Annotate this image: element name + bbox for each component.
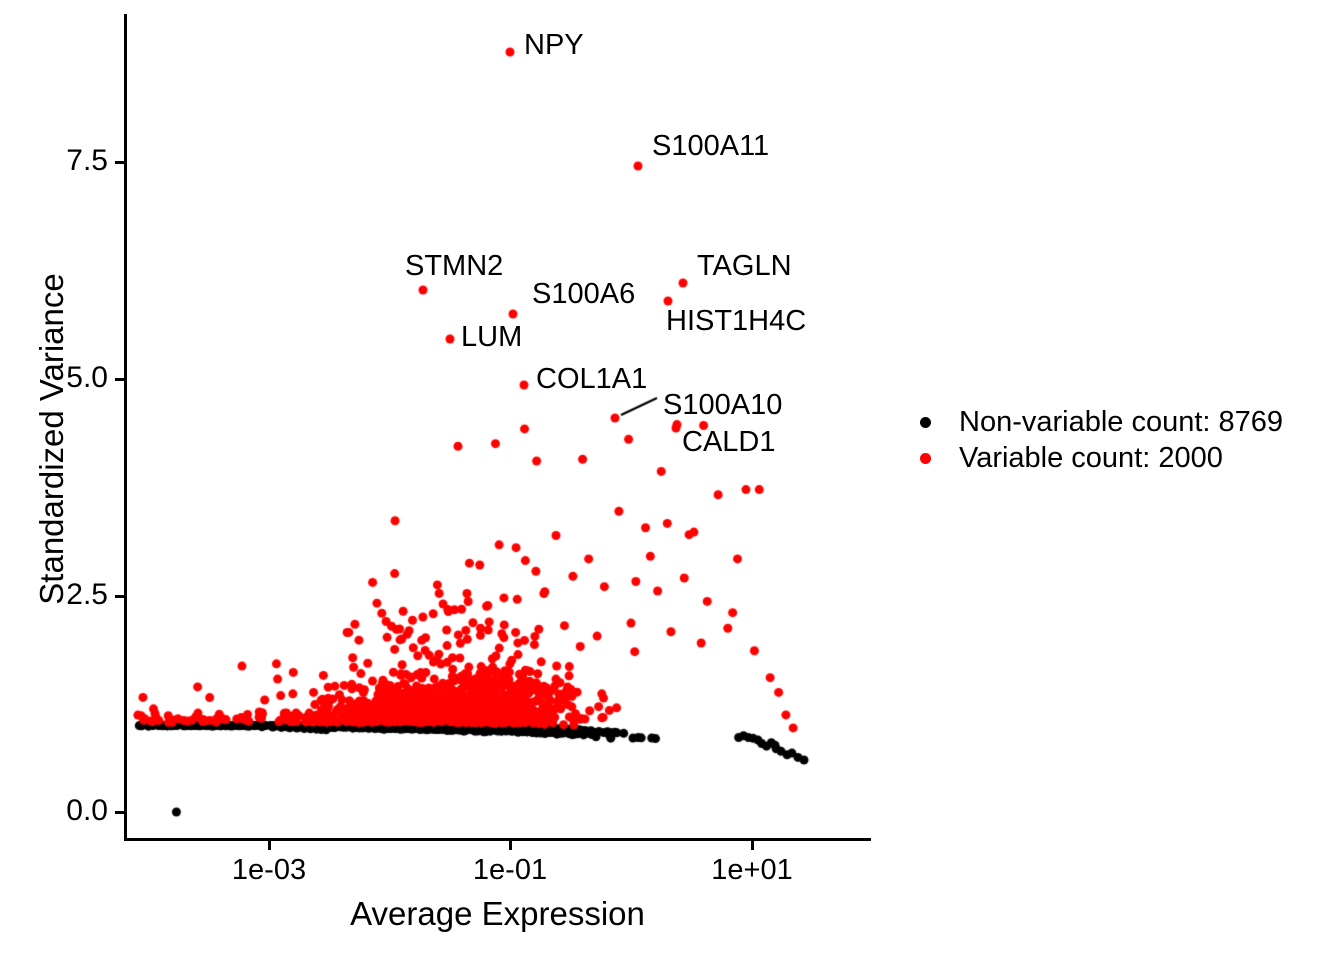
y-tick-mark [115, 595, 124, 598]
gene-label: HIST1H4C [666, 307, 806, 336]
y-tick-mark [115, 811, 124, 814]
gene-label: NPY [524, 31, 584, 60]
variable-feature-plot: 0.02.55.07.5 1e-031e-011e+01 Standardize… [0, 0, 1344, 960]
legend-label-non-variable: Non-variable count: 8769 [959, 406, 1283, 439]
y-axis-title: Standardized Variance [33, 139, 71, 739]
legend-dot-variable [920, 453, 931, 464]
x-tick-mark [751, 841, 754, 850]
x-tick-mark [509, 841, 512, 850]
x-tick-label: 1e-01 [473, 854, 547, 887]
legend-label-variable: Variable count: 2000 [959, 442, 1223, 475]
legend-item-variable[interactable]: Variable count: 2000 [908, 440, 1283, 476]
y-tick-mark [115, 161, 124, 164]
gene-label: S100A10 [663, 391, 782, 420]
legend: Non-variable count: 8769 Variable count:… [908, 404, 1283, 476]
gene-label: CALD1 [682, 428, 776, 457]
gene-label: LUM [461, 323, 522, 352]
y-tick-label: 0.0 [0, 796, 108, 826]
x-tick-mark [268, 841, 271, 850]
y-tick-mark [115, 378, 124, 381]
legend-item-non-variable[interactable]: Non-variable count: 8769 [908, 404, 1283, 440]
gene-label: STMN2 [405, 252, 503, 281]
x-tick-label: 1e+01 [711, 854, 792, 887]
x-axis-title: Average Expression [124, 895, 871, 933]
gene-label: TAGLN [697, 252, 792, 281]
gene-label: S100A6 [532, 280, 635, 309]
gene-label: COL1A1 [536, 365, 647, 394]
x-axis-line [124, 838, 871, 841]
gene-label: S100A11 [652, 132, 769, 161]
x-tick-label: 1e-03 [232, 854, 306, 887]
y-axis-line [124, 14, 127, 840]
legend-dot-non-variable [920, 417, 931, 428]
